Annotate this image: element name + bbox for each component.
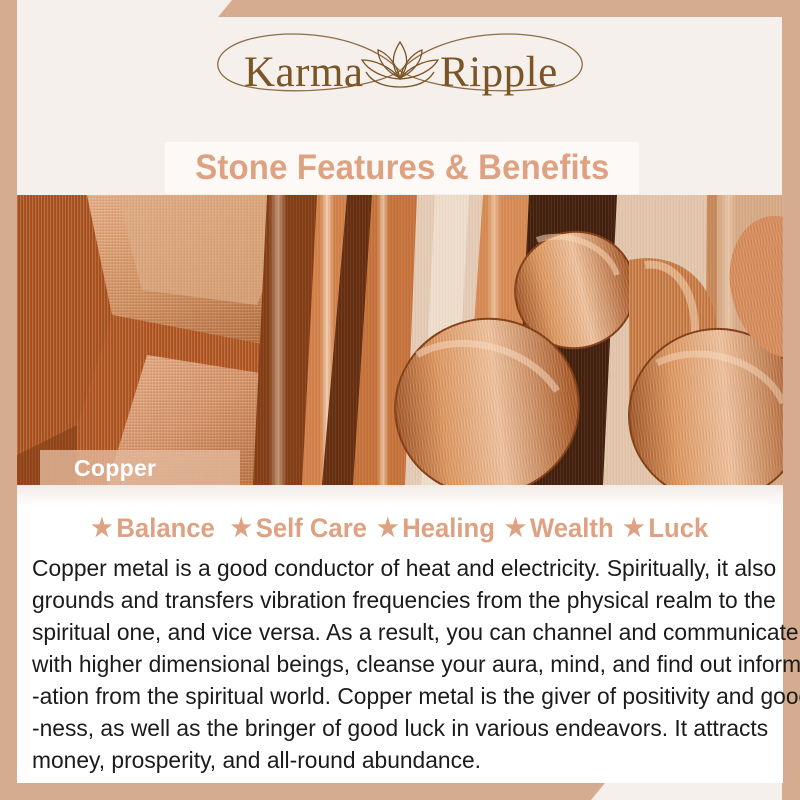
- feature-item-luck: ★ Luck: [623, 513, 710, 544]
- feature-label: Healing: [403, 513, 496, 544]
- feature-item-healing: ★ Healing: [377, 513, 497, 544]
- feature-label: Balance: [116, 513, 214, 544]
- feature-item-self-care: ★ Self Care: [230, 513, 368, 544]
- frame-bottom-accent-bar: [0, 783, 605, 800]
- feature-item-balance: ★ Balance: [91, 513, 216, 544]
- hero-image: [17, 195, 783, 485]
- description-line: money, prosperity, and all-round abundan…: [32, 744, 750, 776]
- description-line: -ness, as well as the bringer of good lu…: [32, 712, 750, 744]
- page-title: Stone Features & Benefits: [195, 148, 609, 188]
- description-line: Copper metal is a good conductor of heat…: [32, 552, 750, 584]
- description-line: spiritual one, and vice versa. As a resu…: [32, 616, 750, 648]
- star-icon: ★: [230, 516, 251, 541]
- frame-left-border: [0, 0, 17, 800]
- feature-label: Luck: [648, 513, 708, 544]
- feature-label: Wealth: [530, 513, 614, 544]
- copper-bars-photo: [17, 195, 783, 485]
- frame-right-border: [782, 0, 800, 800]
- feature-label: Self Care: [256, 513, 367, 544]
- hero-caption-text: Copper: [74, 455, 156, 482]
- description-line: grounds and transfers vibration frequenc…: [32, 584, 750, 616]
- page-title-band: Stone Features & Benefits: [165, 142, 639, 194]
- description-line: with higher dimensional beings, cleanse …: [32, 648, 750, 680]
- description-paragraph: Copper metal is a good conductor of heat…: [32, 552, 772, 776]
- star-icon: ★: [91, 516, 112, 541]
- infographic-card: Karma Ripple Stone Features & Benefits: [0, 0, 800, 800]
- star-icon: ★: [505, 516, 526, 541]
- description-line: -ation from the spiritual world. Copper …: [32, 680, 750, 712]
- feature-item-wealth: ★ Wealth: [505, 513, 616, 544]
- star-icon: ★: [377, 516, 398, 541]
- hero-caption-band: Copper: [40, 450, 240, 487]
- features-list: ★ Balance ★ Self Care ★ Healing ★ Wealth…: [17, 509, 783, 547]
- star-icon: ★: [623, 516, 644, 541]
- frame-top-accent-bar: [218, 0, 800, 17]
